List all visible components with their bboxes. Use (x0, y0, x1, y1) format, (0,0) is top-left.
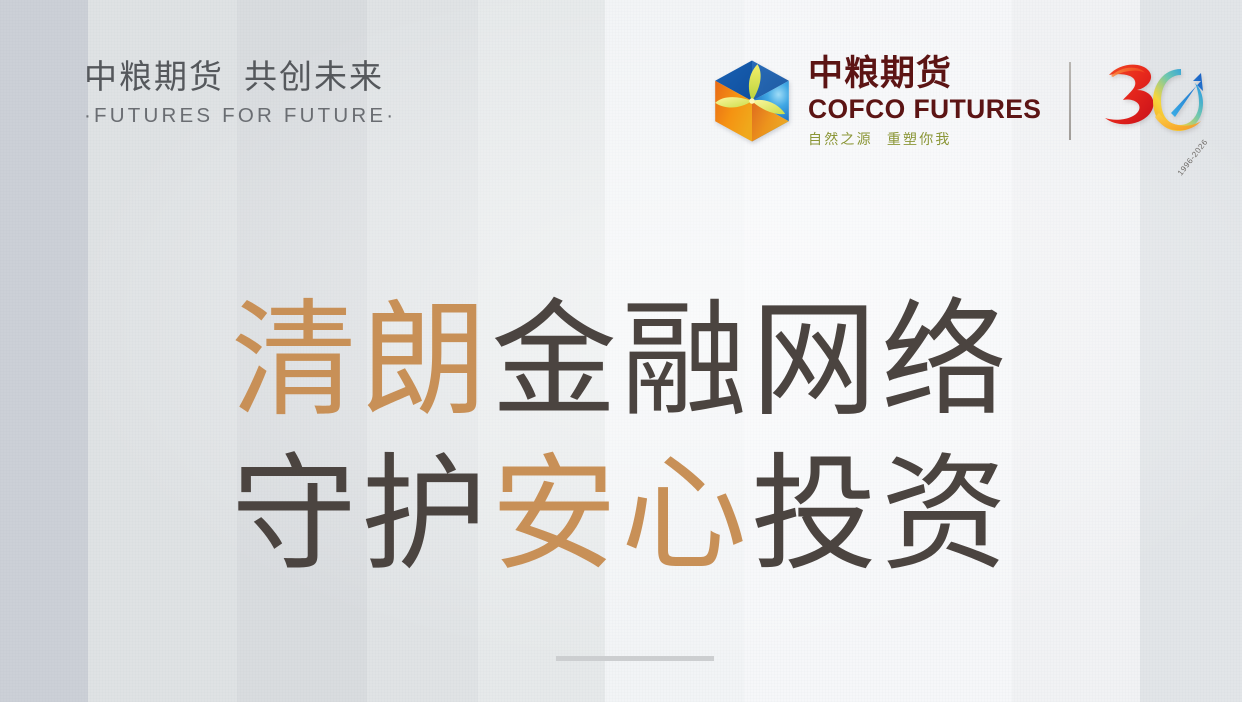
brand-logo-lockup: 中粮期货 COFCO FUTURES 自然之源重塑你我 (706, 52, 1209, 149)
cofco-cube-icon (706, 55, 798, 147)
anniversary-30-mark (1097, 55, 1209, 147)
cofco-tagline-right: 重塑你我 (887, 131, 952, 147)
slogan-chinese-left: 中粮期货 (84, 58, 224, 95)
slogan-english: ·FUTURES FOR FUTURE· (84, 104, 396, 128)
headline-segment-dark-2: 投资 (751, 447, 1011, 586)
cofco-tagline: 自然之源重塑你我 (808, 129, 1041, 149)
vertical-divider-icon (1069, 62, 1071, 140)
cofco-tagline-left: 自然之源 (808, 131, 873, 147)
slogan-chinese: 中粮期货共创未来 (84, 58, 396, 96)
footer-divider (556, 656, 714, 661)
headline-segment-gold-0: 清朗 (231, 293, 491, 432)
headline-segment-dark-1: 金融网络 (491, 293, 1011, 432)
poster-canvas: 中粮期货共创未来 ·FUTURES FOR FUTURE· (0, 0, 1242, 702)
cofco-name-en: COFCO FUTURES (808, 96, 1041, 123)
brand-slogan: 中粮期货共创未来 ·FUTURES FOR FUTURE· (84, 58, 396, 128)
headline-line-1: 清朗金融网络 (0, 286, 1242, 440)
headline-segment-dark-0: 守护 (231, 447, 491, 586)
headline-block: 清朗金融网络 守护安心投资 (0, 286, 1242, 594)
headline-segment-gold-1: 安心 (491, 447, 751, 586)
cofco-name-cn: 中粮期货 (808, 56, 1041, 93)
anniversary-30-icon: 1996-2026 (1097, 55, 1209, 147)
headline-line-2: 守护安心投资 (0, 440, 1242, 594)
slogan-chinese-right: 共创未来 (244, 58, 384, 95)
cofco-wordmark: 中粮期货 COFCO FUTURES 自然之源重塑你我 (808, 52, 1041, 149)
